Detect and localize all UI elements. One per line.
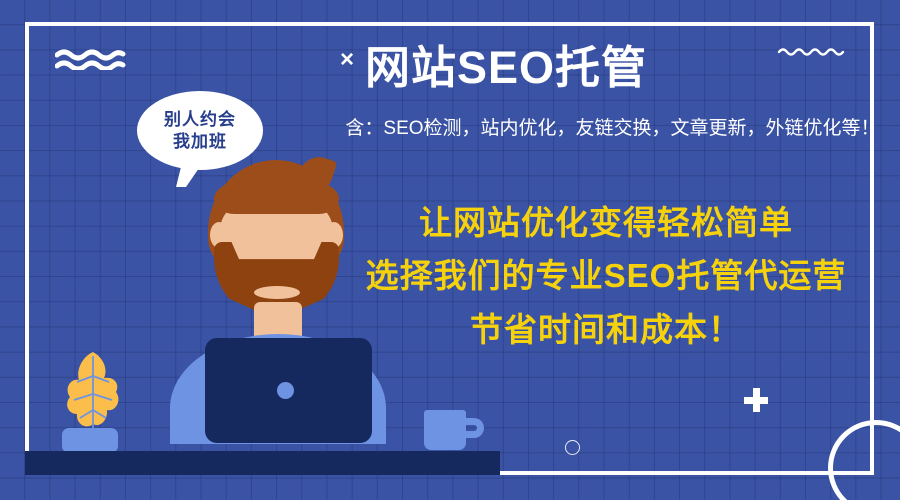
coffee-mug — [424, 410, 466, 450]
slogan-line-2: 选择我们的专业SEO托管代运营 — [330, 249, 882, 302]
page-title: ×网站SEO托管 — [340, 44, 880, 92]
laptop-logo-icon — [277, 382, 294, 399]
title-text: 网站SEO托管 — [365, 42, 647, 93]
wave-double-icon — [55, 48, 127, 75]
mouth — [254, 286, 300, 299]
hair-fringe — [214, 178, 339, 214]
plus-mark-icon — [744, 388, 768, 412]
speech-bubble-line-1: 别人约会 — [164, 109, 236, 131]
desk-surface-right — [440, 451, 500, 475]
plant-leaf-icon — [64, 350, 122, 438]
seo-banner: ×网站SEO托管 含：SEO检测，站内优化，友链交换，文章更新，外链优化等！ 让… — [0, 0, 900, 500]
plant-pot — [62, 428, 118, 453]
coffee-mug-handle — [461, 418, 484, 438]
speech-bubble-line-2: 我加班 — [173, 131, 227, 153]
slogan-block: 让网站优化变得轻松简单 选择我们的专业SEO托管代运营 节省时间和成本！ — [330, 196, 882, 356]
small-circle-decoration — [565, 440, 580, 455]
desk-surface — [25, 451, 465, 475]
slogan-line-3: 节省时间和成本！ — [330, 303, 882, 356]
slogan-line-1: 让网站优化变得轻松简单 — [330, 196, 882, 249]
title-bullet-icon: × — [340, 46, 355, 73]
subtitle: 含：SEO检测，站内优化，友链交换，文章更新，外链优化等！ — [340, 116, 885, 143]
